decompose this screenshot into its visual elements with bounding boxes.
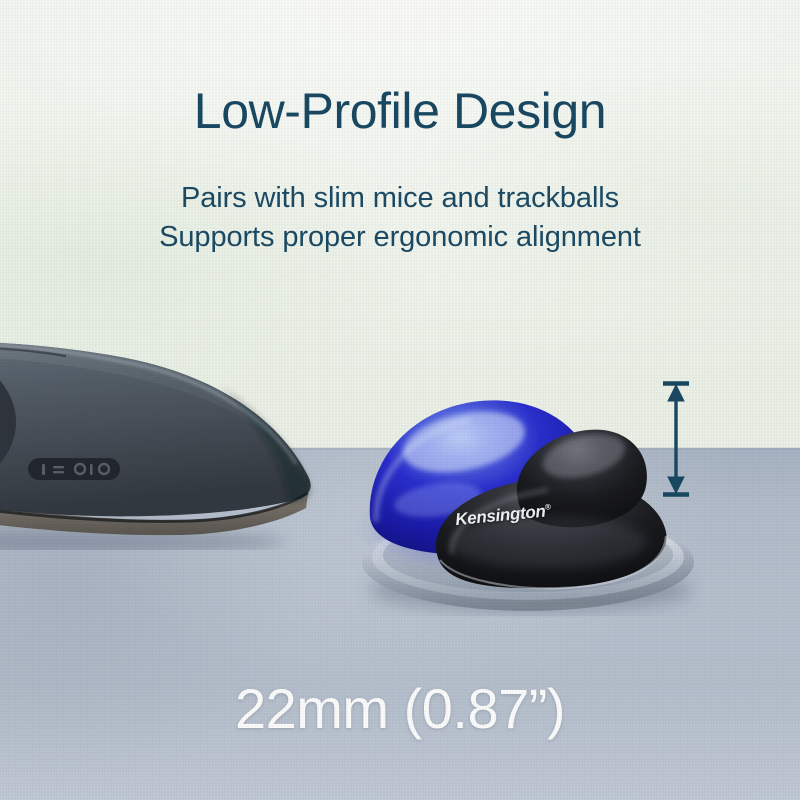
arrow-head-down	[668, 477, 684, 493]
product-marketing-image: Kensington® Low-Profile Design Pairs wit…	[0, 0, 800, 800]
height-dimension-arrow	[650, 374, 702, 504]
height-caption: 22mm (0.87”)	[0, 676, 800, 741]
slim-trackball-mouse	[0, 318, 340, 550]
arrow-head-up	[668, 385, 684, 401]
subtitle-line-2: Supports proper ergonomic alignment	[0, 219, 800, 256]
page-headline: Low-Profile Design	[0, 84, 800, 138]
subtitle-line-1: Pairs with slim mice and trackballs	[0, 180, 800, 217]
